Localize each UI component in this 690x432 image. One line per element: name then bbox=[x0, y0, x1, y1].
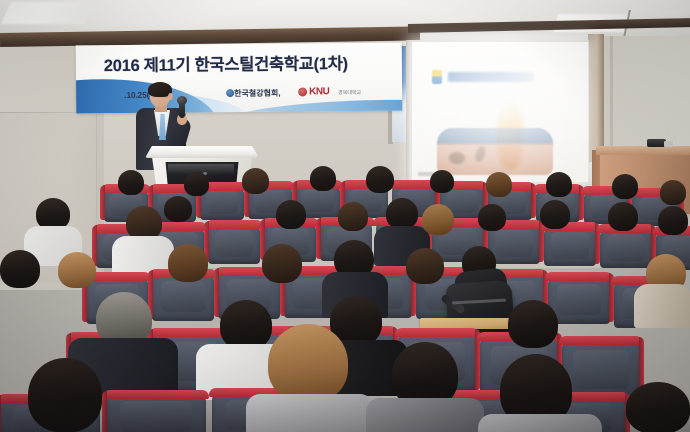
attendee-shoulders bbox=[478, 414, 602, 432]
podium-top bbox=[145, 146, 259, 158]
seat bbox=[562, 340, 640, 400]
knu-subtext: 경북대학교 bbox=[338, 89, 361, 96]
attendee-head bbox=[262, 244, 302, 283]
attendee-head bbox=[118, 170, 144, 195]
attendee-head bbox=[508, 300, 558, 348]
lecture-hall-photo: 2016 제11기 한국스틸건축학교(1차) .10.25(화) / 한국철강협… bbox=[0, 0, 690, 432]
attendee-head bbox=[338, 202, 368, 231]
ceiling-light-left bbox=[1, 2, 96, 24]
attendee-head bbox=[164, 196, 192, 222]
knu-logo-icon bbox=[298, 87, 307, 96]
slide-title-text bbox=[448, 72, 534, 82]
attendee-head bbox=[626, 382, 690, 432]
attendee-head bbox=[546, 172, 572, 197]
attendee-head bbox=[406, 248, 444, 284]
attendee-head bbox=[168, 244, 208, 282]
attendee-head bbox=[242, 168, 269, 194]
slide-figure-detail-a bbox=[449, 152, 465, 164]
attendee-head bbox=[608, 202, 638, 231]
attendee-head bbox=[430, 170, 454, 193]
attendee-head bbox=[28, 358, 102, 432]
seat bbox=[548, 276, 610, 324]
banner-organizer: 한국철강협회, bbox=[234, 88, 280, 99]
slide-logo-icon bbox=[432, 70, 442, 84]
attendee-head bbox=[58, 252, 96, 288]
attendee-head bbox=[366, 166, 394, 193]
right-wall-pillar bbox=[588, 34, 604, 162]
attendee-head bbox=[276, 200, 306, 229]
attendee-head bbox=[660, 180, 686, 205]
seat bbox=[600, 228, 652, 268]
attendee-shoulders bbox=[366, 398, 484, 432]
attendee-shoulders bbox=[246, 394, 374, 432]
banner-title: 2016 제11기 한국스틸건축학교(1차) bbox=[104, 50, 398, 77]
attendee-head bbox=[422, 204, 454, 235]
av-desk-top bbox=[596, 146, 690, 155]
attendee-head bbox=[0, 250, 40, 288]
seat bbox=[208, 224, 260, 264]
attendee-shoulders bbox=[634, 284, 690, 328]
attendee-head bbox=[220, 300, 272, 350]
right-wall-seam bbox=[610, 36, 613, 158]
attendee-head bbox=[478, 204, 506, 231]
attendee-head bbox=[486, 172, 512, 197]
projection-screen-edge bbox=[406, 40, 411, 186]
av-device-secondary bbox=[664, 141, 673, 147]
seat bbox=[544, 226, 596, 266]
attendee-head bbox=[184, 172, 209, 196]
seat bbox=[106, 394, 206, 432]
attendee-head bbox=[540, 200, 570, 229]
microphone-head-icon bbox=[177, 96, 187, 105]
knu-wordmark: KNU bbox=[309, 86, 329, 97]
association-logo-icon bbox=[226, 89, 234, 97]
event-banner: 2016 제11기 한국스틸건축학교(1차) .10.25(화) / 한국철강협… bbox=[76, 43, 403, 114]
attendee-head bbox=[658, 206, 688, 235]
attendee-head bbox=[612, 174, 638, 199]
attendee-head bbox=[268, 324, 348, 402]
attendee-head bbox=[386, 198, 418, 229]
attendee-head bbox=[126, 206, 162, 240]
speaker-ear bbox=[168, 93, 173, 100]
attendee-head bbox=[310, 166, 336, 191]
